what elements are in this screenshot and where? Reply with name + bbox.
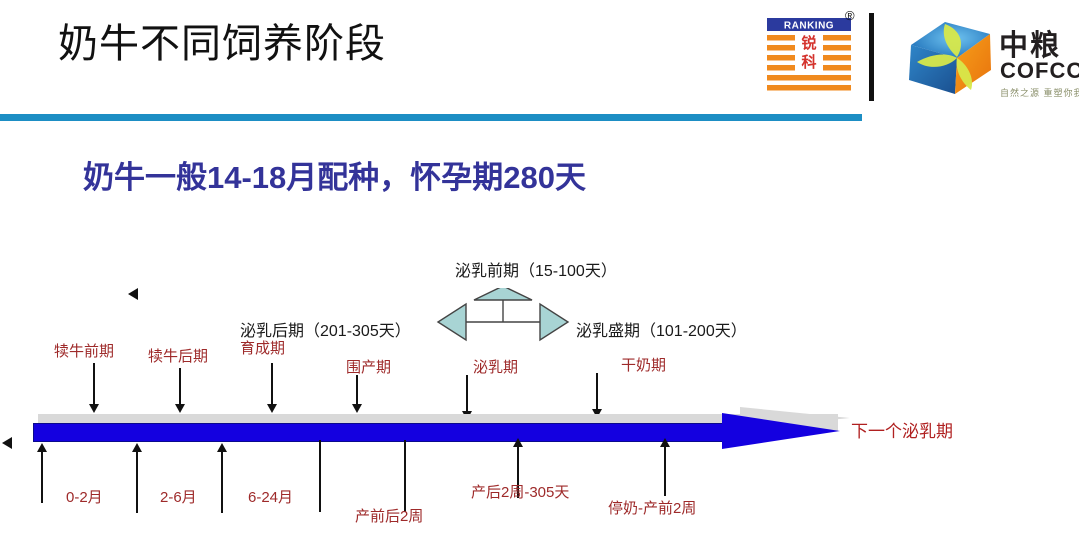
cofco-tagline: 自然之源 重塑你我 bbox=[1000, 86, 1079, 99]
marker-triangle-upper bbox=[128, 288, 138, 300]
cofco-en-text: COFCO bbox=[1000, 58, 1079, 84]
label-lactation-peak: 泌乳盛期（101-200天） bbox=[576, 317, 747, 341]
tick-down-4 bbox=[352, 375, 362, 413]
tick-down-2 bbox=[175, 368, 185, 413]
tick-up-5 bbox=[404, 440, 406, 512]
duration-label-6: 停奶-产前2周 bbox=[608, 497, 696, 518]
slide-canvas: 奶牛不同饲养阶段 RANKING 锐 科 ® bbox=[0, 0, 1079, 553]
stage-label-calf-early: 犊牛前期 bbox=[54, 340, 114, 361]
logo-separator bbox=[869, 13, 874, 101]
tick-down-3 bbox=[267, 363, 277, 413]
three-way-arrow-icon bbox=[436, 288, 572, 348]
timeline-bar bbox=[33, 423, 735, 442]
registered-mark-icon: ® bbox=[845, 8, 855, 23]
label-lactation-early: 泌乳前期（15-100天） bbox=[455, 257, 617, 281]
tick-down-6 bbox=[592, 373, 602, 418]
ranking-logo: RANKING 锐 科 bbox=[763, 14, 855, 100]
svg-text:RANKING: RANKING bbox=[784, 21, 834, 32]
duration-label-5: 产后2周-305天 bbox=[471, 481, 569, 502]
tick-up-3 bbox=[217, 443, 227, 513]
stage-label-calf-late: 犊牛后期 bbox=[148, 345, 208, 366]
tick-down-1 bbox=[89, 363, 99, 413]
stage-label-lactation: 泌乳期 bbox=[473, 356, 518, 377]
subtitle-text: 奶牛一般14-18月配种，怀孕期280天 bbox=[83, 152, 586, 197]
stage-label-transition: 围产期 bbox=[346, 356, 391, 377]
stage-label-growing: 育成期 bbox=[240, 337, 285, 358]
stage-label-dry: 干奶期 bbox=[621, 354, 666, 375]
tick-up-2 bbox=[132, 443, 142, 513]
tick-up-1 bbox=[37, 443, 47, 503]
duration-label-4: 产前后2周 bbox=[355, 505, 423, 526]
tick-up-4 bbox=[319, 440, 321, 512]
label-next-cycle: 下一个泌乳期 bbox=[851, 417, 953, 442]
duration-label-3: 6-24月 bbox=[248, 486, 293, 507]
page-title: 奶牛不同饲养阶段 bbox=[58, 17, 386, 71]
svg-text:锐: 锐 bbox=[801, 34, 816, 52]
tick-up-7 bbox=[660, 438, 670, 496]
timeline-bar-arrowhead-icon bbox=[722, 413, 840, 449]
header-divider bbox=[0, 114, 862, 121]
duration-label-2: 2-6月 bbox=[160, 486, 197, 507]
duration-label-1: 0-2月 bbox=[66, 486, 103, 507]
marker-triangle-left bbox=[2, 437, 12, 449]
svg-text:科: 科 bbox=[801, 53, 816, 71]
